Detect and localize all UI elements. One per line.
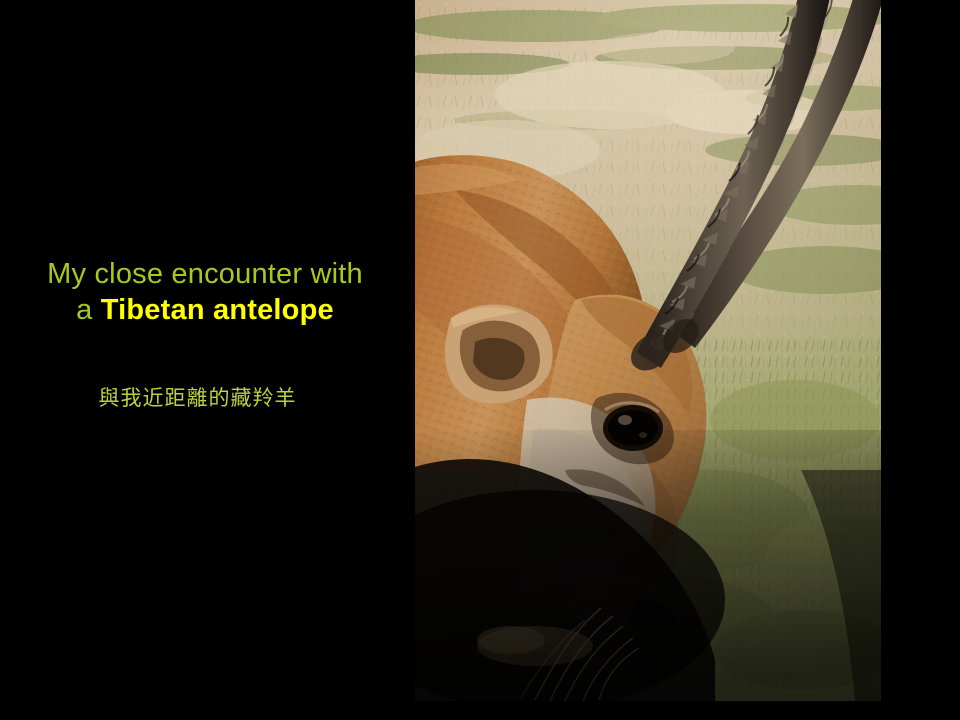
presentation-slide: My close encounter with a Tibetan antelo… [0, 0, 960, 720]
title-line-2-lead: a [76, 294, 101, 326]
antelope-photograph [415, 0, 881, 701]
slide-title-block: My close encounter with a Tibetan antelo… [0, 258, 410, 327]
title-line-2-emphasis: Tibetan antelope [101, 294, 334, 326]
title-line-2: a Tibetan antelope [0, 294, 410, 328]
antelope-photo-illustration [415, 0, 881, 701]
subtitle-chinese: 與我近距離的藏羚羊 [0, 382, 395, 412]
title-line-1: My close encounter with [0, 258, 410, 292]
